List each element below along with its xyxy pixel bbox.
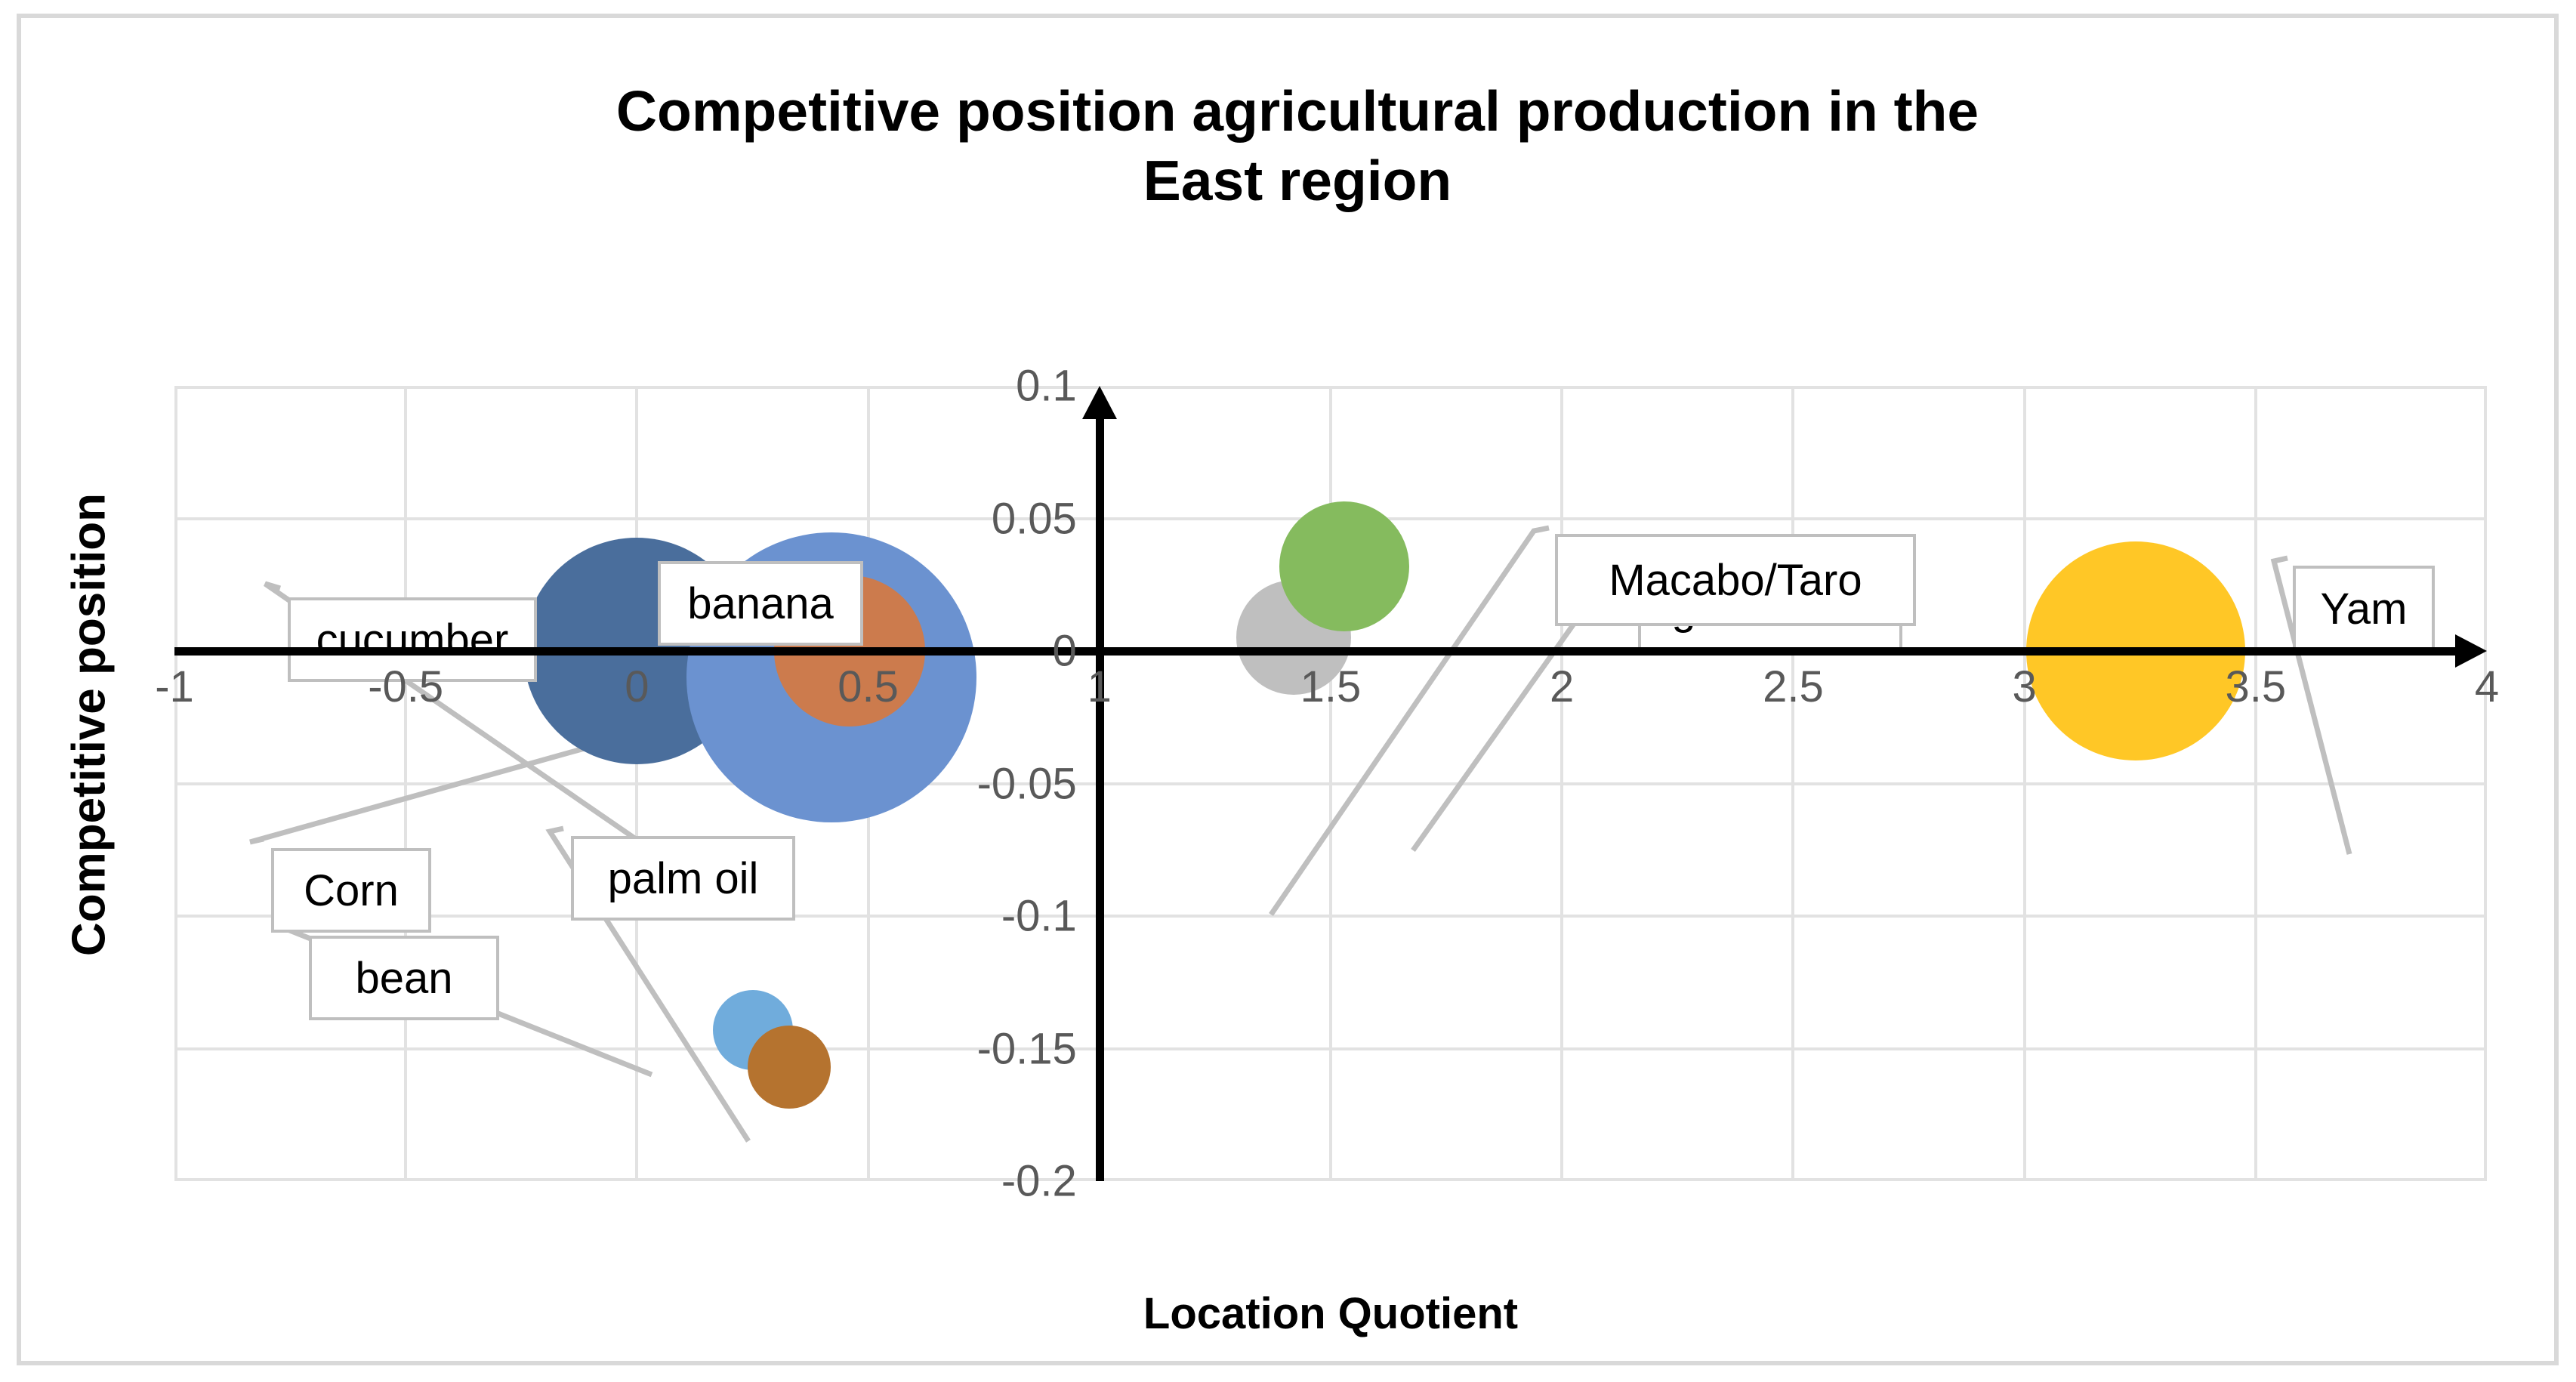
y-tick-label: 0 <box>926 626 1077 677</box>
data-label-text: Yam <box>2321 584 2408 634</box>
x-tick-label: -1 <box>155 662 194 712</box>
x-tick-label: 0.5 <box>838 662 899 712</box>
data-label-bean[interactable]: bean <box>309 936 499 1020</box>
x-tick-label: 1.5 <box>1300 662 1362 712</box>
y-axis-title: Competitive position <box>63 453 116 997</box>
x-tick-label: 1 <box>1087 662 1112 712</box>
chart-frame: Competitive position agricultural produc… <box>17 14 2559 1365</box>
x-tick-label: 2.5 <box>1763 662 1824 712</box>
data-label-corn[interactable]: Corn <box>271 848 431 933</box>
y-tick-label: -0.2 <box>926 1156 1077 1207</box>
y-tick-label: -0.1 <box>926 891 1077 942</box>
data-label-text: Corn <box>304 865 399 916</box>
y-tick-label: 0.05 <box>926 493 1077 544</box>
data-label-text: Macabo/Taro <box>1609 555 1862 606</box>
data-label-macabo-taro[interactable]: Macabo/Taro <box>1555 534 1916 626</box>
data-label-yam[interactable]: Yam <box>2293 566 2435 652</box>
x-axis-line <box>174 647 2457 656</box>
x-tick-label: 2 <box>1550 662 1574 712</box>
y-axis-arrow-icon <box>1082 386 1117 419</box>
data-label-text: bean <box>355 953 452 1004</box>
data-label-palm-oil[interactable]: palm oil <box>571 836 795 921</box>
x-axis-title: Location Quotient <box>174 1288 2487 1339</box>
title-line-1: Competitive position agricultural produc… <box>248 77 2347 147</box>
y-tick-label: 0.1 <box>926 361 1077 412</box>
data-label-text: palm oil <box>608 853 759 904</box>
x-tick-label: 0 <box>625 662 649 712</box>
title-line-2: East region <box>248 147 2347 216</box>
x-tick-label: 4 <box>2475 662 2499 712</box>
x-tick-label: 3.5 <box>2225 662 2286 712</box>
bubble-corn <box>748 1026 831 1109</box>
y-tick-label: -0.15 <box>926 1023 1077 1074</box>
data-label-text: cucumber <box>316 615 509 665</box>
plot-area: cucumberbananagroundnutYamMacabo/TaroCor… <box>174 386 2487 1181</box>
data-label-text: banana <box>687 578 834 629</box>
x-tick-label: -0.5 <box>368 662 443 712</box>
page-title: Competitive position agricultural produc… <box>248 77 2347 215</box>
x-tick-label: 3 <box>2012 662 2036 712</box>
y-axis-line <box>1096 418 1104 1181</box>
data-label-banana[interactable]: banana <box>658 561 863 646</box>
y-tick-label: -0.05 <box>926 758 1077 809</box>
bubble-groundnut <box>1279 501 1409 631</box>
